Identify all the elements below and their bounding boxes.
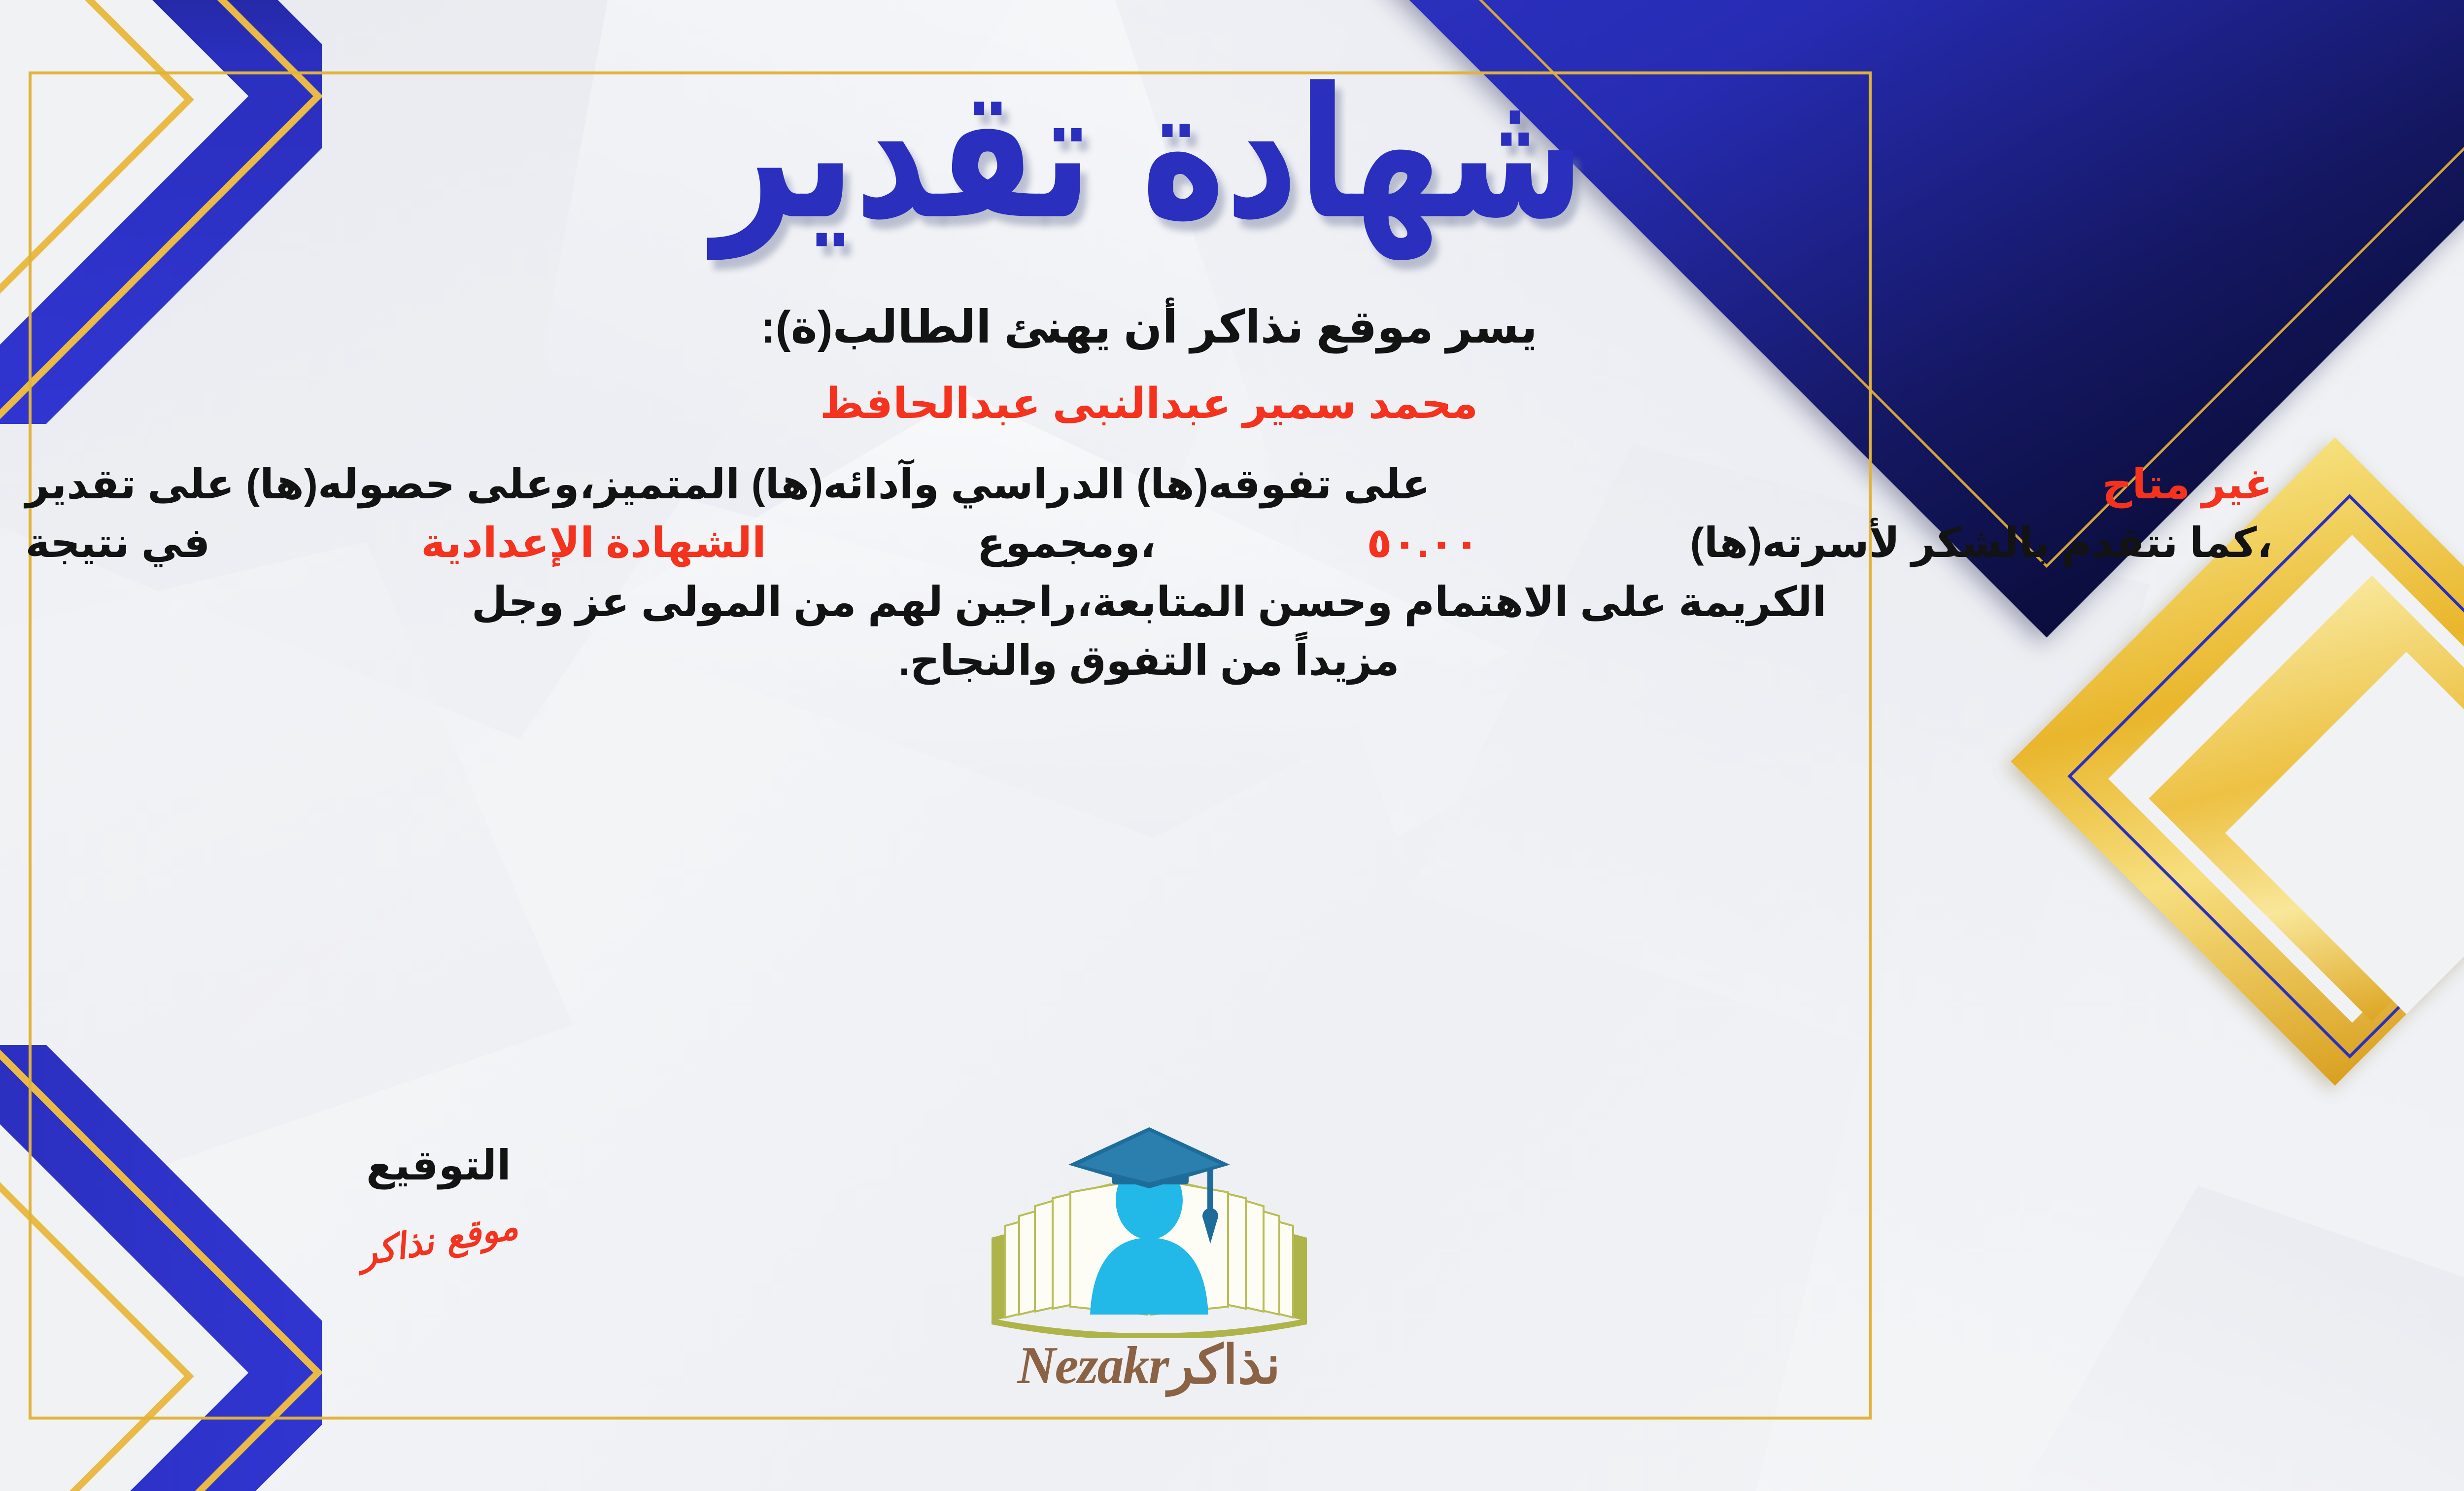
citation-line-4: مزيداً من التفوق والنجاح. [26, 631, 2273, 690]
signature-label: التوقيع [266, 1141, 611, 1189]
citation-paragraph: غير متاح على تفوقه(ها) الدراسي وآدائه(ها… [26, 455, 2273, 690]
grade-value: غير متاح [2102, 455, 2273, 514]
student-name: محمد سمير عبدالنبى عبدالحافظ [820, 379, 1478, 428]
certificate-name: الشهادة الإعدادية [421, 514, 766, 572]
logo-latin: Nezakr [1018, 1335, 1168, 1396]
citation-line-2-tail: ،كما نتقدم بالشكر لأسرته(ها) [1690, 514, 2273, 572]
certificate-page: شهادة تقدير يسر موقع نذاكر أن يهنئ الطال… [0, 0, 2464, 1491]
citation-line-2-total-label: ،ومجموع [977, 514, 1156, 572]
certificate-title: شهادة تقدير [713, 64, 1585, 244]
citation-line-1: غير متاح على تفوقه(ها) الدراسي وآدائه(ها… [26, 455, 2273, 514]
logo-wordmark: نذاكرNezakr [962, 1334, 1336, 1396]
certificate-footer: التوقيع موقع نذاكر [0, 1121, 2464, 1427]
signature-mark: موقع نذاكر [356, 1205, 521, 1274]
citation-line-3: الكريمة على الاهتمام وحسن المتابعة،راجين… [26, 573, 2273, 631]
graduate-book-icon [962, 1121, 1336, 1338]
citation-line-1-text: على تفوقه(ها) الدراسي وآدائه(ها) المتميز… [26, 455, 1431, 514]
citation-line-2: ،كما نتقدم بالشكر لأسرته(ها) ٥٠.٠٠ ،ومجم… [26, 514, 2273, 572]
logo-arabic: نذاكر [1168, 1336, 1281, 1395]
total-score: ٥٠.٠٠ [1367, 514, 1479, 572]
citation-line-2-head: في نتيجة [26, 514, 210, 572]
brand-logo: نذاكرNezakr [962, 1121, 1336, 1396]
greeting-line: يسر موقع نذاكر أن يهنئ الطالب(ة): [760, 301, 1538, 353]
certificate-content: شهادة تقدير يسر موقع نذاكر أن يهنئ الطال… [0, 0, 2464, 1491]
signature-block: التوقيع موقع نذاكر [266, 1141, 611, 1260]
